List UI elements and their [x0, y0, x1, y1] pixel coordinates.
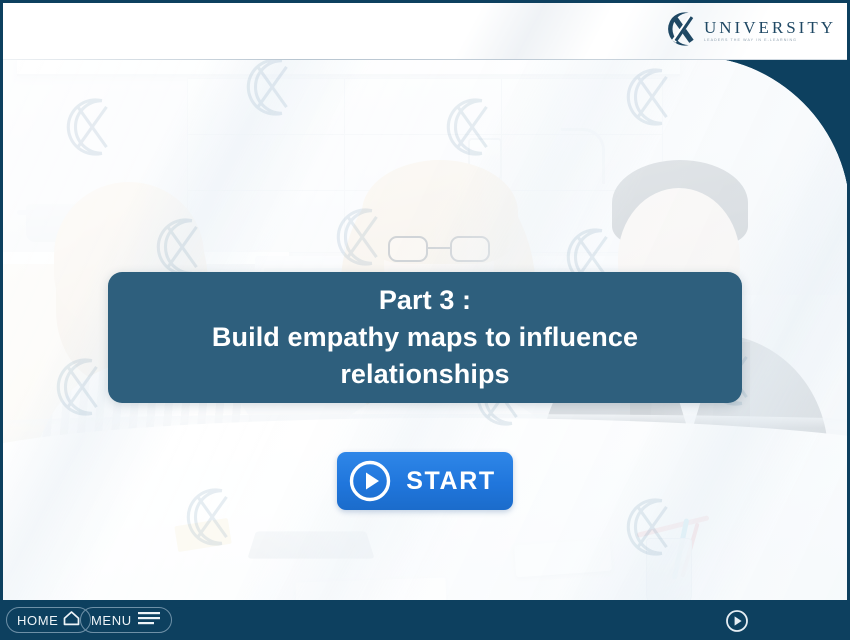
logo-tagline: LEADERS THE WAY IN E-LEARNING [704, 39, 836, 43]
play-button[interactable] [725, 609, 749, 633]
university-logo[interactable]: UNIVERSITY LEADERS THE WAY IN E-LEARNING [663, 9, 836, 49]
play-circle-icon [725, 609, 749, 633]
slide-title-card: Part 3 : Build empathy maps to influence… [108, 272, 742, 403]
frame-top-edge [0, 0, 850, 3]
logo-word: UNIVERSITY [704, 19, 836, 36]
home-button-label: HOME [17, 613, 58, 628]
header-bar: UNIVERSITY LEADERS THE WAY IN E-LEARNING [0, 0, 850, 60]
title-line-1: Part 3 : [212, 282, 638, 319]
header-divider [0, 59, 850, 60]
page-title: Part 3 : Build empathy maps to influence… [190, 282, 660, 392]
hamburger-icon [137, 610, 161, 631]
start-button-label: START [403, 467, 513, 496]
menu-button[interactable]: MENU [80, 607, 172, 633]
title-line-3: relationships [212, 356, 638, 393]
x-monogram-icon [663, 10, 701, 48]
play-circle-icon [337, 452, 403, 510]
course-slide-screen: UNIVERSITY LEADERS THE WAY IN E-LEARNING [0, 0, 850, 640]
menu-button-label: MENU [91, 613, 132, 628]
logo-text-block: UNIVERSITY LEADERS THE WAY IN E-LEARNING [704, 15, 836, 43]
start-button[interactable]: START [337, 452, 513, 510]
frame-left-edge [0, 0, 3, 640]
home-icon [63, 610, 80, 631]
bottom-toolbar: HOME MENU [0, 600, 850, 640]
title-line-2: Build empathy maps to influence [212, 319, 638, 356]
home-button[interactable]: HOME [6, 607, 91, 633]
